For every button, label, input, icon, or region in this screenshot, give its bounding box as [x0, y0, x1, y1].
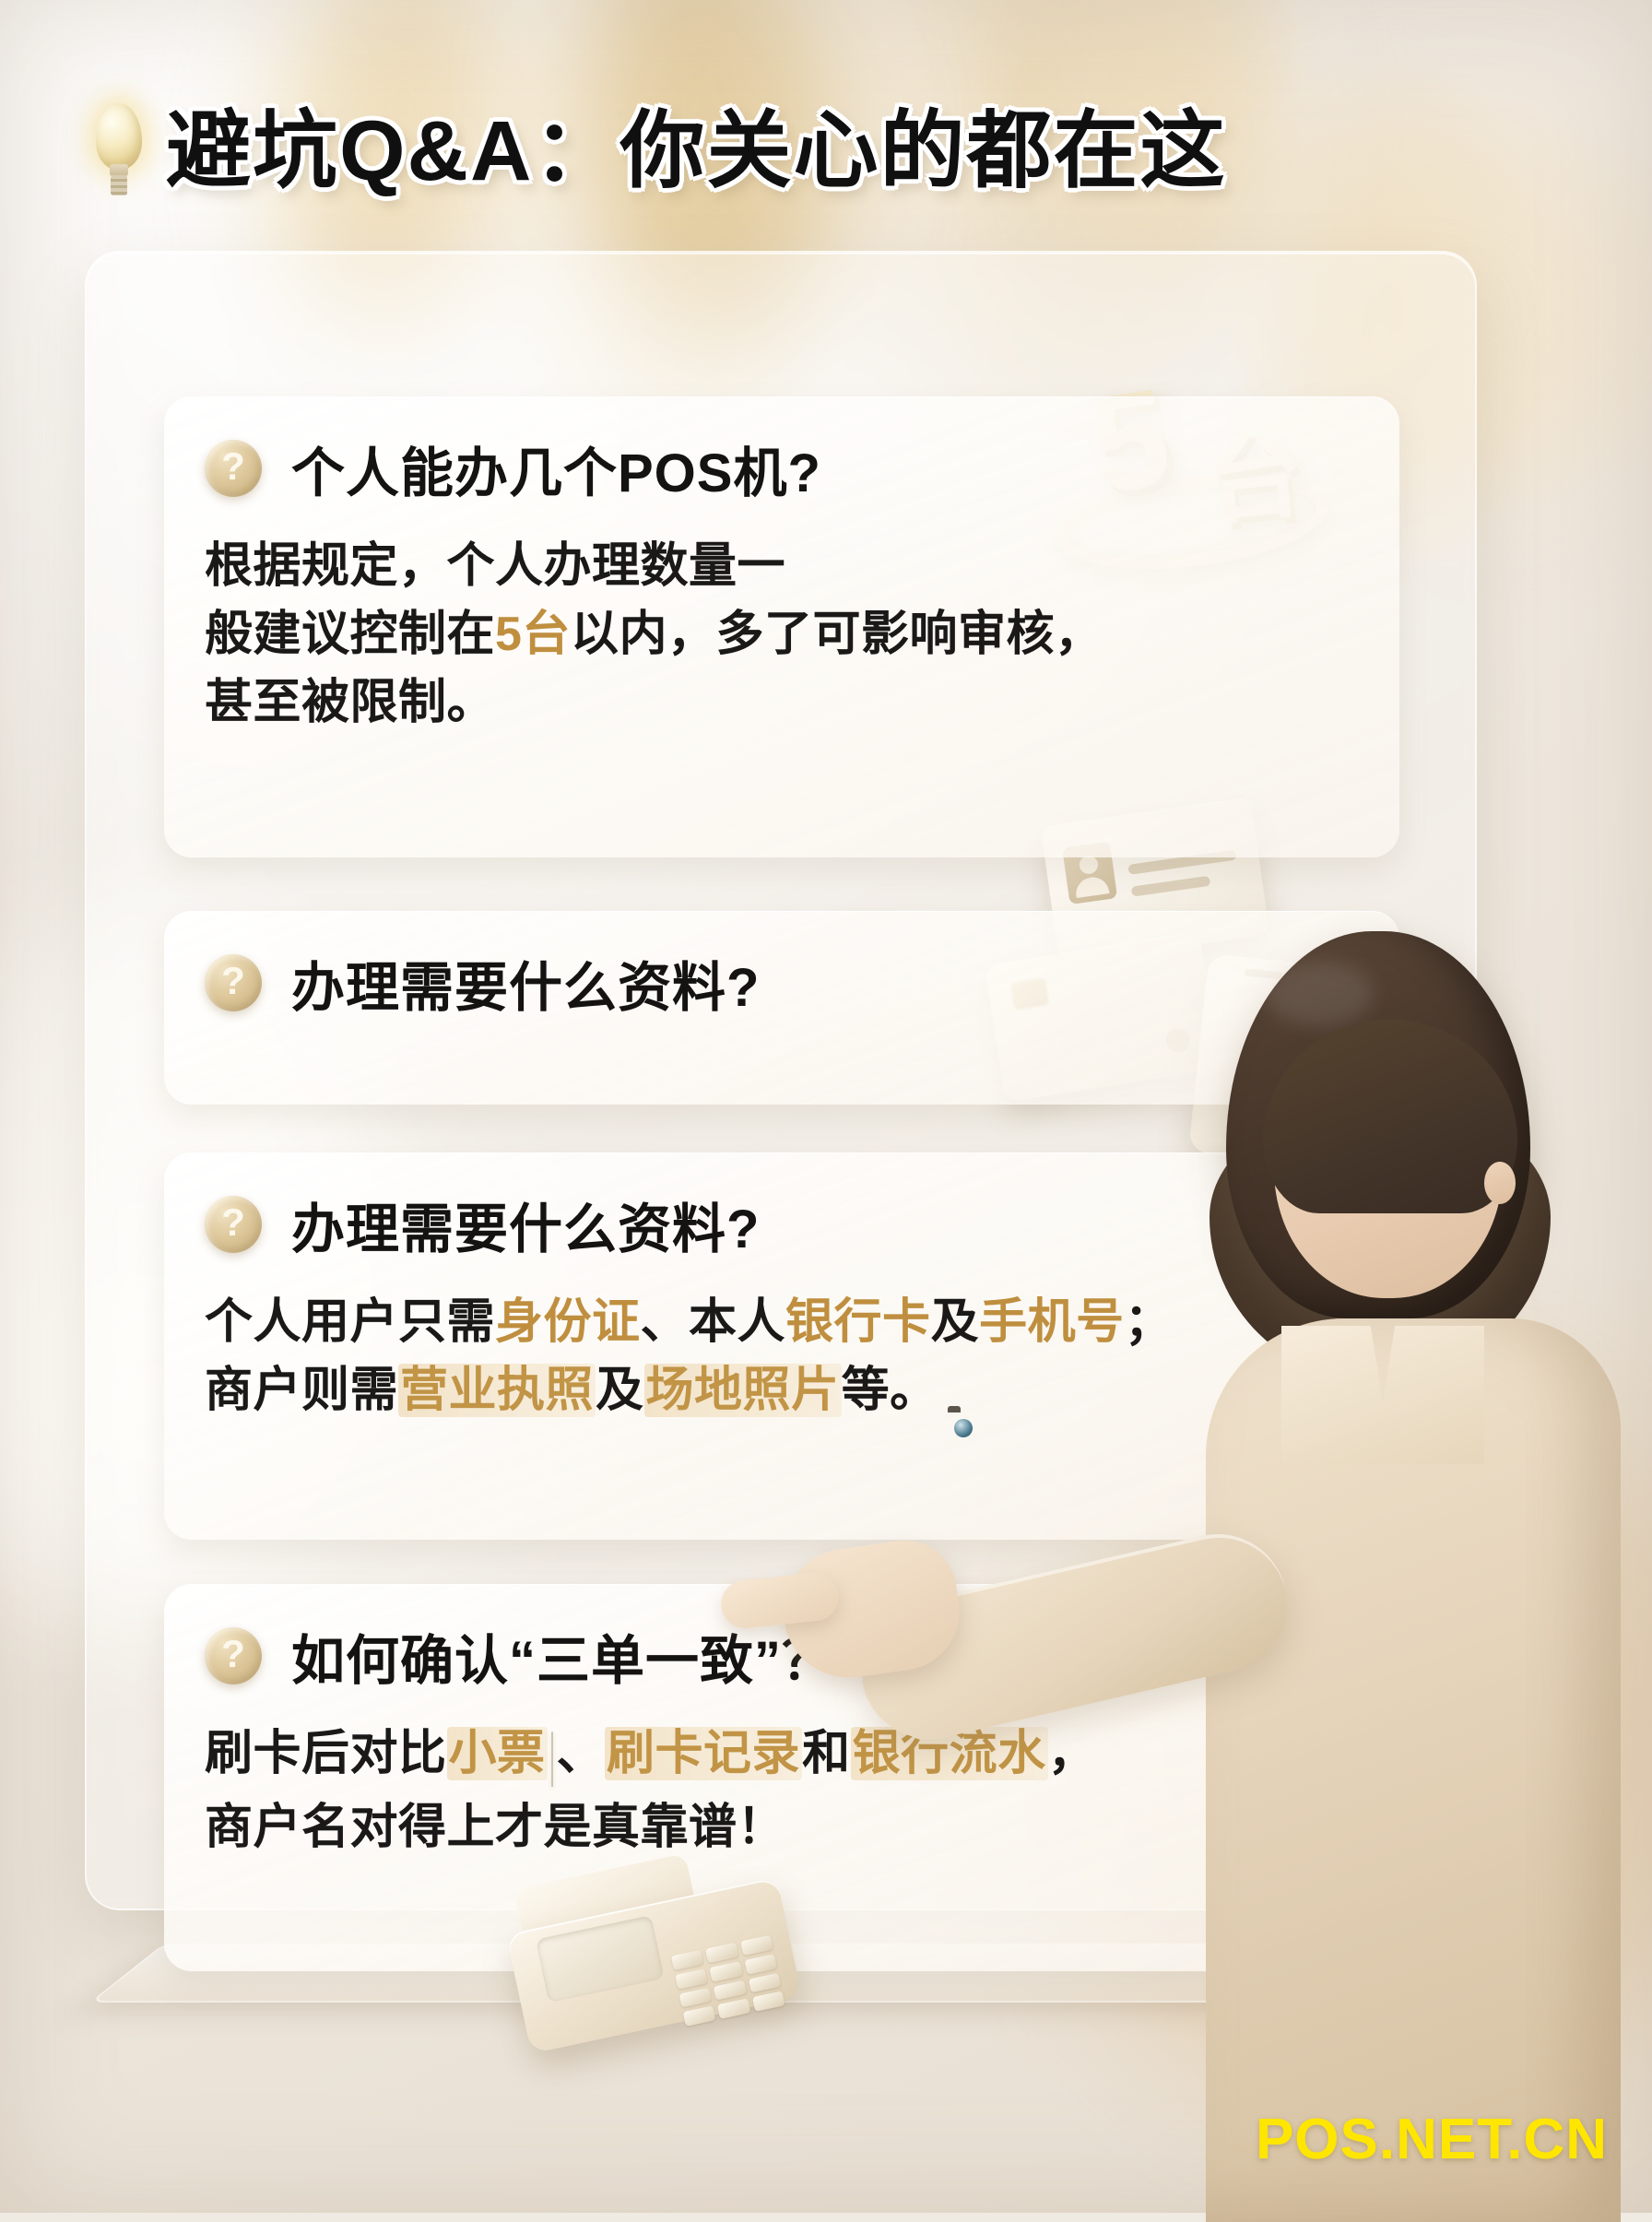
page-title: 避坑Q&A：你关心的都在这 — [166, 109, 1226, 194]
answer-run: 个人用户只需 — [205, 1295, 495, 1349]
page-header: 避坑Q&A：你关心的都在这 — [88, 103, 1226, 199]
highlight-term: 小票 — [447, 1727, 548, 1780]
highlight-term: 身份证 — [495, 1295, 641, 1349]
answer-run: 和 — [802, 1727, 851, 1780]
person-illustration — [1152, 931, 1652, 2213]
question-text: 办理需要什么资料? — [282, 1184, 769, 1265]
question-badge-icon: ? — [205, 954, 262, 1011]
answer-run: 及 — [596, 1364, 644, 1417]
answer-run: 商户则需 — [205, 1364, 398, 1417]
answer-line: 甚至被限制。 — [205, 669, 1359, 738]
answer-run: 刷卡后对比 — [205, 1727, 447, 1780]
highlight-term: 场地照片 — [644, 1364, 842, 1417]
answer-run: 商户名对得上才是真靠谱！ — [205, 1801, 785, 1854]
question-text: 办理需要什么资料? — [282, 942, 769, 1023]
question-text: 个人能办几个POS机? — [282, 428, 831, 509]
receipt-icon — [551, 1726, 553, 1794]
highlight-term: 5台 — [495, 608, 571, 661]
answer-run: 般建议控制在 — [205, 608, 495, 661]
answer-run: ， — [1048, 1727, 1097, 1780]
highlight-term: 刷卡记录 — [605, 1727, 802, 1780]
answer-run: 、 — [557, 1727, 606, 1780]
highlight-term: 营业执照 — [398, 1364, 596, 1417]
answer-run: 及 — [931, 1295, 980, 1349]
answer-line: 般建议控制在5台以内，多了可影响审核， — [205, 601, 1359, 669]
question-badge-icon: ? — [205, 440, 262, 497]
answer-run: 根据规定，个人办理数量一 — [205, 539, 785, 593]
question-badge-icon: ? — [205, 1196, 262, 1253]
qa-card: ? 个人能办几个POS机? 根据规定，个人办理数量一般建议控制在5台以内，多了可… — [164, 396, 1399, 857]
highlight-term: 手机号 — [979, 1295, 1125, 1349]
answer-text: 根据规定，个人办理数量一般建议控制在5台以内，多了可影响审核，甚至被限制。 — [205, 533, 1359, 737]
lightbulb-icon — [88, 103, 149, 199]
answer-line: 根据规定，个人办理数量一 — [205, 533, 1359, 601]
answer-run: 甚至被限制。 — [205, 676, 495, 729]
question-row: ? 个人能办几个POS机? — [205, 428, 1359, 509]
site-watermark: POS.NET.CN — [1256, 2107, 1608, 2172]
answer-run: 、本人 — [641, 1295, 786, 1349]
question-text: 如何确认“三单一致”？ — [282, 1615, 845, 1696]
answer-run: 以内，多了可影响审核， — [571, 608, 1103, 661]
question-badge-icon: ? — [205, 1627, 262, 1684]
highlight-term: 银行卡 — [785, 1295, 931, 1349]
answer-run: 等。 — [842, 1364, 938, 1417]
